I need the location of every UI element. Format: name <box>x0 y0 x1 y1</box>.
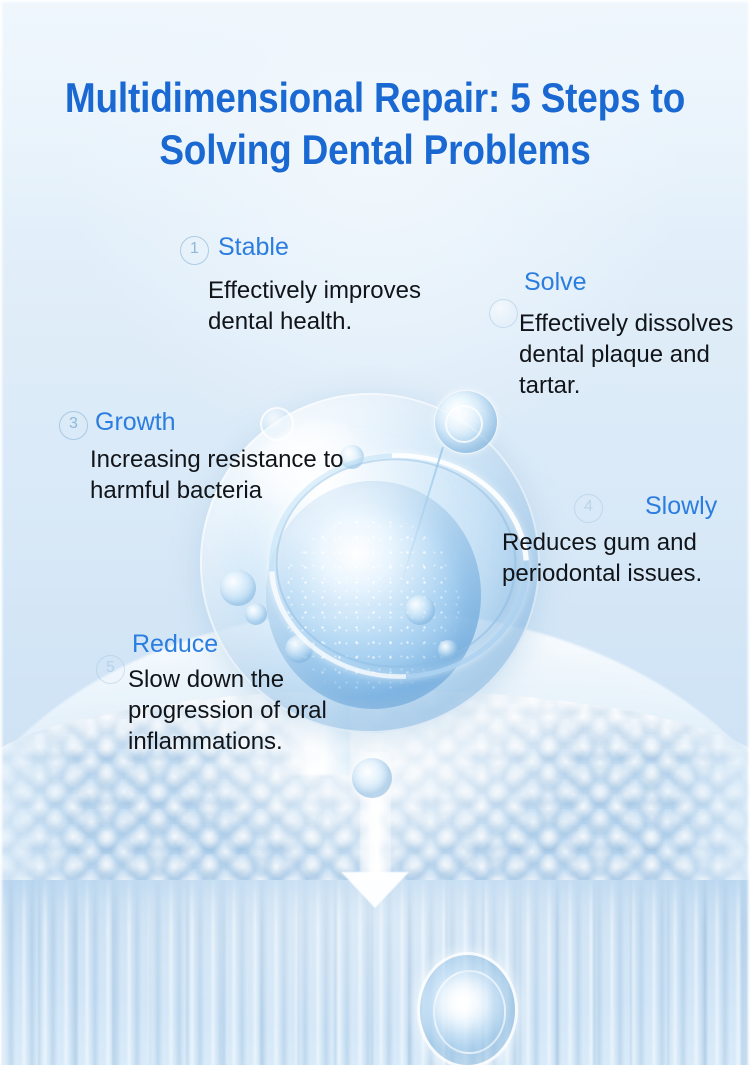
step-body-2: Effectively dissolves dental plaque and … <box>519 308 744 401</box>
step-heading-3: Growth <box>95 408 176 437</box>
step-heading-1: Stable <box>218 233 289 262</box>
step-badge-4: 4 <box>574 494 603 523</box>
satellite-ring-icon <box>445 405 483 443</box>
edge-highlight-left <box>0 0 4 1065</box>
step-heading-5: Reduce <box>132 630 218 659</box>
step-body-5: Slow down the progression of oral inflam… <box>128 664 328 757</box>
step-badge-5: 5 <box>96 655 125 684</box>
step-badge-1: 1 <box>180 236 209 265</box>
arrow-bubble-icon <box>352 758 392 798</box>
step-body-3: Increasing resistance to harmful bacteri… <box>90 444 355 506</box>
page-title-line1: Multidimensional Repair: 5 Steps to <box>65 74 685 121</box>
step-badge-2: 2 <box>489 299 518 328</box>
down-arrow-icon <box>341 872 409 908</box>
micro-bubble-icon <box>245 603 267 625</box>
step-body-1: Effectively improves dental health. <box>208 275 423 337</box>
micro-bubble-icon <box>220 570 256 606</box>
step-badge-3: 3 <box>59 411 88 440</box>
edge-highlight-top <box>0 0 750 4</box>
small-bubble-icon <box>260 407 294 441</box>
step-body-4: Reduces gum and periodontal issues. <box>502 527 742 589</box>
glowing-droplet-icon <box>420 955 515 1065</box>
step-heading-4: Slowly <box>645 492 717 521</box>
step-heading-2: Solve <box>524 268 587 297</box>
edge-highlight-right <box>746 0 750 1065</box>
page-title-line2: Solving Dental Problems <box>45 124 705 176</box>
dental-repair-poster: Multidimensional Repair: 5 Steps to Solv… <box>0 0 750 1065</box>
page-title: Multidimensional Repair: 5 Steps to Solv… <box>45 72 705 176</box>
